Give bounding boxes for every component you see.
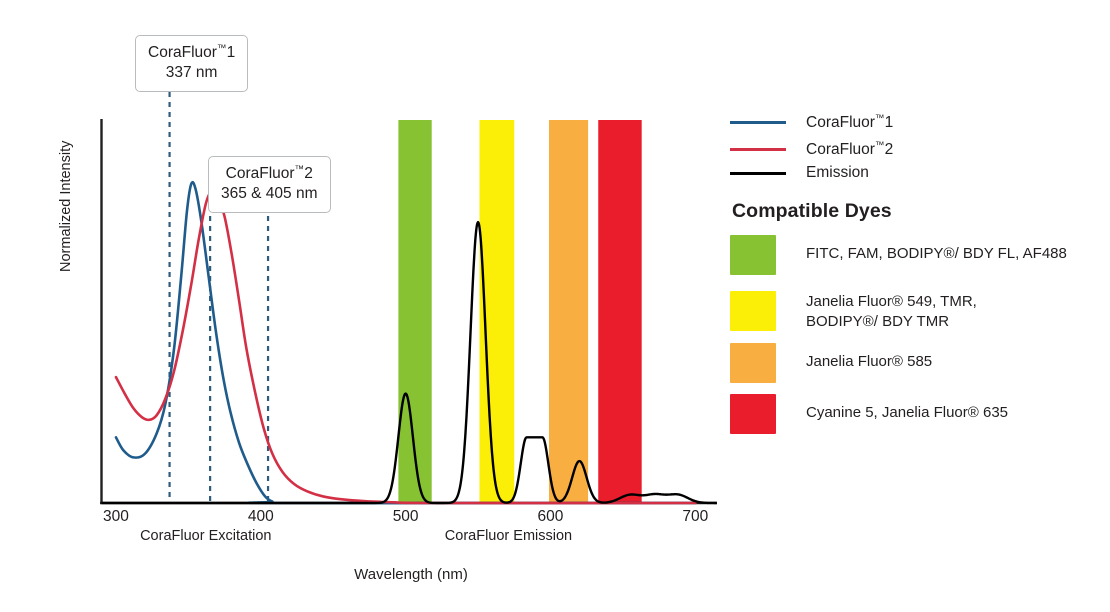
- dye-item-yellow: Janelia Fluor® 549, TMR, BODIPY®/ BDY TM…: [730, 291, 977, 332]
- x-tick-label-400: 400: [248, 508, 274, 526]
- red-band: [598, 120, 641, 503]
- legend-label-0-text: CoraFluor: [806, 114, 875, 131]
- x-axis-title: Wavelength (nm): [354, 566, 468, 583]
- dye-color-swatch-red: [730, 394, 776, 434]
- dye-label-red-line1: Cyanine 5, Janelia Fluor® 635: [806, 404, 1008, 421]
- dye-label-orange: Janelia Fluor® 585: [806, 343, 932, 372]
- legend-label-1-trademark: ™: [875, 140, 885, 151]
- dye-item-green: FITC, FAM, BODIPY®/ BDY FL, AF488: [730, 235, 1067, 275]
- emission-filter-bands: [398, 120, 641, 503]
- legend-label-0-trademark: ™: [875, 113, 885, 124]
- legend-item-corafluor1: CoraFluor™1: [730, 112, 893, 132]
- x-tick-label-500: 500: [393, 508, 419, 526]
- dye-label-yellow-line2: BODIPY®/ BDY TMR: [806, 313, 949, 330]
- dye-label-yellow: Janelia Fluor® 549, TMR, BODIPY®/ BDY TM…: [806, 291, 977, 332]
- dye-color-swatch-green: [730, 235, 776, 275]
- dye-label-yellow-line1: Janelia Fluor® 549, TMR,: [806, 293, 977, 310]
- orange-band: [549, 120, 588, 503]
- legend-label-corafluor2: CoraFluor™2: [806, 140, 893, 159]
- legend-label-2-text: Emission: [806, 164, 869, 181]
- legend-line-swatch-emission: [730, 172, 786, 175]
- callout-cf2-line2: 365 & 405 nm: [221, 184, 318, 204]
- chart-page: CoraFluor™1 337 nm CoraFluor™2 365 & 405…: [0, 0, 1110, 612]
- legend-panel: CoraFluor™1 CoraFluor™2 Emission Compati…: [730, 0, 1110, 612]
- callout-cf2-line1: CoraFluor: [226, 165, 295, 182]
- dye-label-red: Cyanine 5, Janelia Fluor® 635: [806, 394, 1008, 423]
- callout-cf1-line2: 337 nm: [148, 63, 235, 83]
- compatible-dyes-heading: Compatible Dyes: [732, 200, 892, 223]
- dye-color-swatch-yellow: [730, 291, 776, 331]
- y-axis-title: Normalized Intensity: [58, 92, 74, 272]
- legend-label-emission: Emission: [806, 164, 869, 182]
- dye-color-swatch-orange: [730, 343, 776, 383]
- dye-label-orange-line1: Janelia Fluor® 585: [806, 353, 932, 370]
- legend-label-0-suffix: 1: [885, 114, 894, 131]
- legend-line-swatch-corafluor2: [730, 148, 786, 151]
- callout-corafluor2: CoraFluor™2 365 & 405 nm: [208, 156, 331, 213]
- callout-corafluor1: CoraFluor™1 337 nm: [135, 35, 248, 92]
- region-label-emission: CoraFluor Emission: [445, 528, 572, 544]
- dye-label-green-line1: FITC, FAM, BODIPY®/ BDY FL, AF488: [806, 245, 1067, 262]
- dye-label-green: FITC, FAM, BODIPY®/ BDY FL, AF488: [806, 235, 1067, 264]
- callout-cf1-trademark: ™: [217, 43, 227, 54]
- callout-cf1-line1: CoraFluor: [148, 44, 217, 61]
- legend-label-1-text: CoraFluor: [806, 141, 875, 158]
- excitation-wavelength-markers: [170, 92, 268, 503]
- legend-item-corafluor2: CoraFluor™2: [730, 139, 893, 159]
- region-label-excitation: CoraFluor Excitation: [140, 528, 271, 544]
- x-tick-label-700: 700: [682, 508, 708, 526]
- x-tick-label-300: 300: [103, 508, 129, 526]
- dye-item-orange: Janelia Fluor® 585: [730, 343, 932, 383]
- legend-label-corafluor1: CoraFluor™1: [806, 113, 893, 132]
- callout-cf1-suffix: 1: [227, 44, 236, 61]
- legend-line-swatch-corafluor1: [730, 121, 786, 124]
- plot-area: CoraFluor™1 337 nm CoraFluor™2 365 & 405…: [0, 0, 730, 612]
- callout-cf2-suffix: 2: [304, 165, 313, 182]
- legend-label-1-suffix: 2: [885, 141, 894, 158]
- legend-item-emission: Emission: [730, 163, 869, 183]
- dye-item-red: Cyanine 5, Janelia Fluor® 635: [730, 394, 1008, 434]
- callout-cf2-trademark: ™: [295, 164, 305, 175]
- x-tick-label-600: 600: [538, 508, 564, 526]
